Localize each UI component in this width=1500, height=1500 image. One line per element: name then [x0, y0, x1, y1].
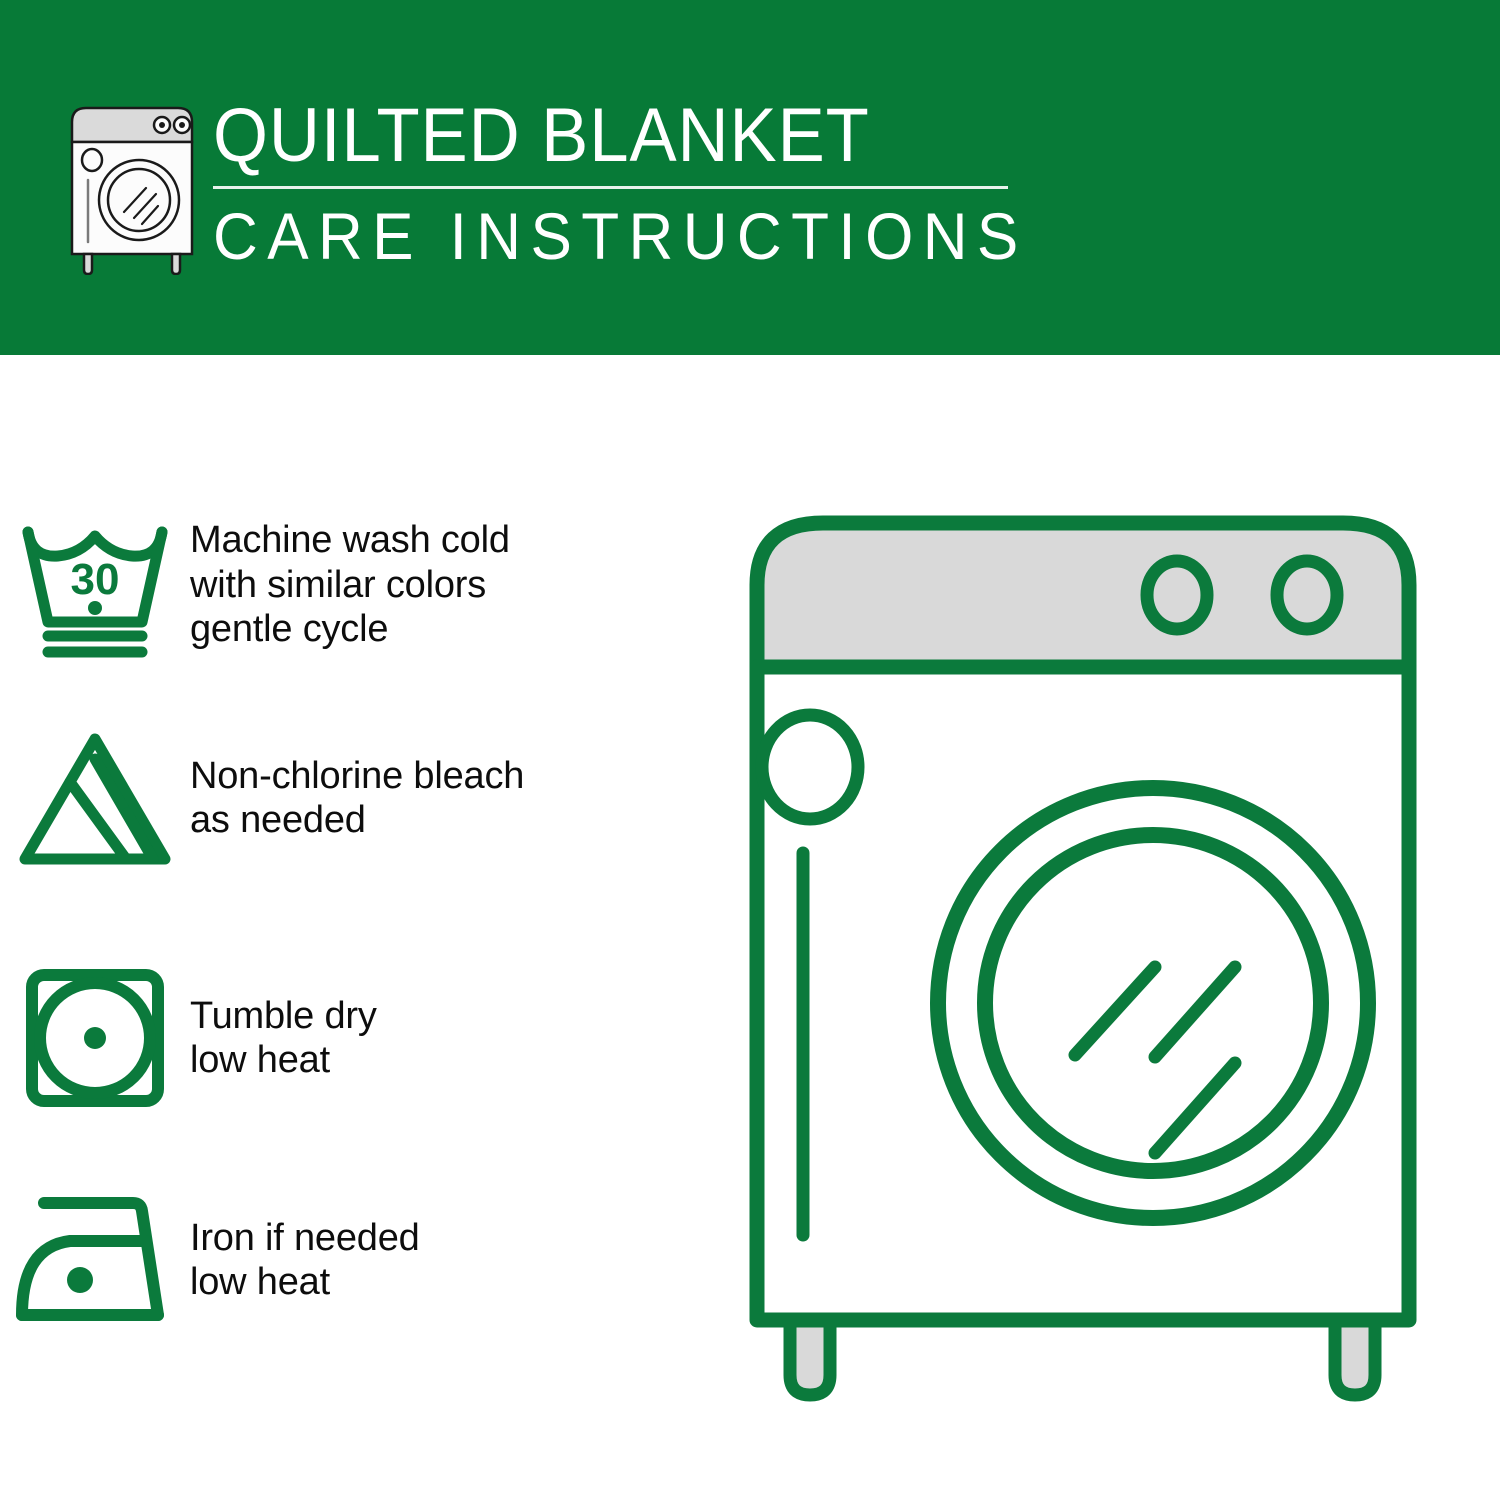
machine-wash-30-icon: 30: [0, 510, 190, 660]
instruction-text: Iron if needed low heat: [190, 1216, 420, 1305]
iron-low-heat-icon: [0, 1185, 190, 1335]
care-instructions-page: QUILTED BLANKET CARE INSTRUCTIONS 30: [0, 0, 1500, 1500]
header-band: QUILTED BLANKET CARE INSTRUCTIONS: [0, 0, 1500, 355]
non-chlorine-bleach-icon: [0, 723, 190, 873]
instruction-text: Machine wash cold with similar colors ge…: [190, 518, 510, 651]
instruction-text: Tumble dry low heat: [190, 994, 377, 1083]
instruction-text: Non-chlorine bleach as needed: [190, 754, 524, 843]
washing-machine-icon: [62, 100, 202, 275]
instruction-row-tumble-dry: Tumble dry low heat: [0, 963, 700, 1113]
title-divider: [213, 186, 1008, 189]
page-subtitle: CARE INSTRUCTIONS: [213, 203, 1059, 269]
instructions-list: 30 Machine wash cold with similar colors…: [0, 355, 700, 1500]
header-text-block: QUILTED BLANKET CARE INSTRUCTIONS: [213, 98, 1113, 269]
instruction-row-bleach: Non-chlorine bleach as needed: [0, 723, 700, 873]
instruction-row-machine-wash: 30 Machine wash cold with similar colors…: [0, 510, 700, 660]
svg-text:30: 30: [71, 555, 120, 604]
tumble-dry-low-icon: [0, 963, 190, 1113]
page-title: QUILTED BLANKET: [213, 98, 1050, 174]
instruction-row-iron: Iron if needed low heat: [0, 1185, 700, 1335]
front-load-washing-machine-illustration: [735, 495, 1455, 1420]
